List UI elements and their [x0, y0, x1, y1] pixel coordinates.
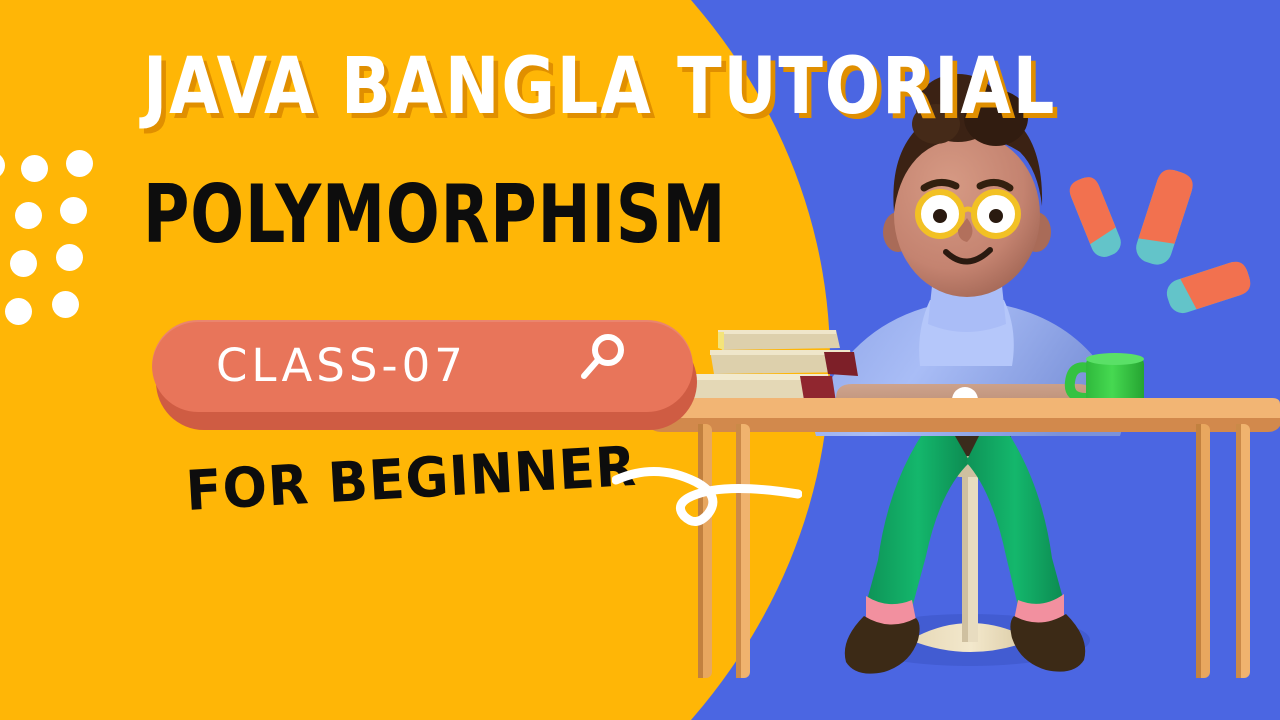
class-pill-label: CLASS-07 [216, 341, 467, 391]
burst-shapes [1062, 160, 1262, 340]
page-title: JAVA BANGLA TUTORIAL [143, 48, 1056, 126]
dot [66, 150, 93, 177]
thumbnail-canvas: JAVA BANGLA TUTORIAL POLYMORPHISM CLASS-… [0, 0, 1280, 720]
squiggle-doodle [612, 452, 802, 542]
dot [21, 155, 48, 182]
dot [56, 244, 83, 271]
book-stack [676, 330, 858, 402]
dot [0, 152, 5, 179]
dot-grid-decoration [0, 150, 106, 325]
search-icon[interactable] [575, 330, 631, 386]
dot [5, 298, 32, 325]
dot [52, 291, 79, 318]
topic-subtitle: POLYMORPHISM [143, 175, 726, 255]
dot [10, 250, 37, 277]
dot [60, 197, 87, 224]
dot [15, 202, 42, 229]
